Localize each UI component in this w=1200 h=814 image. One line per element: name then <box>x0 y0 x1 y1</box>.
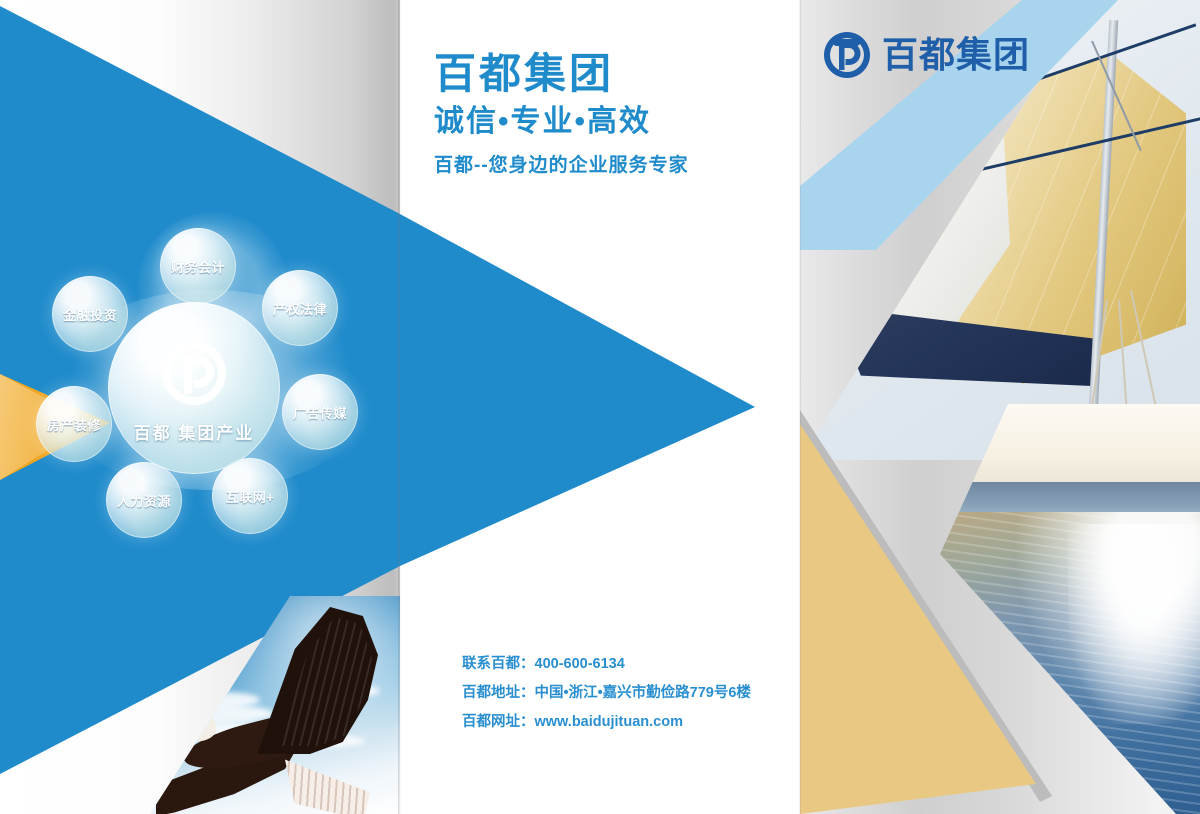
slogan: 诚信•专业•高效 <box>434 105 794 138</box>
bubble-label: 金融投资 <box>63 305 117 324</box>
wave-spray <box>1068 524 1200 724</box>
panel-fold-right <box>798 0 801 814</box>
panel-fold-left <box>398 0 401 814</box>
bubble-node-advertising-media[interactable]: 广告传媒 <box>282 374 358 450</box>
right-panel <box>800 0 1200 814</box>
headline-block: 百都集团 诚信•专业•高效 百都--您身边的企业服务专家 <box>434 52 794 177</box>
industry-bubble-diagram: 财务会计 产权法律 广告传媒 互联网+ 人力资源 房产装修 金融投资 <box>30 222 390 542</box>
contact-website-line[interactable]: 百都网址：www.baidujituan.com <box>462 708 751 737</box>
eagle-beak <box>164 730 182 741</box>
eagle-tail <box>280 760 373 814</box>
bubble-label: 房产装修 <box>47 415 101 434</box>
brand-logo[interactable]: 百都集团 <box>822 30 1058 80</box>
contact-address-line: 百都地址：中国•浙江•嘉兴市勤俭路779号6楼 <box>462 679 751 708</box>
bubble-node-internet-plus[interactable]: 互联网+ <box>212 458 288 534</box>
brand-wordmark: 百都集团 <box>882 33 1058 77</box>
bubble-label: 财务会计 <box>171 257 225 276</box>
contact-phone-line: 联系百都：400-600-6134 <box>462 650 751 679</box>
tagline: 百都--您身边的企业服务专家 <box>434 150 794 177</box>
left-panel: 财务会计 产权法律 广告传媒 互联网+ 人力资源 房产装修 金融投资 <box>0 0 400 814</box>
baidu-group-d-logo-icon <box>822 30 872 80</box>
bubble-node-financial-investment[interactable]: 金融投资 <box>52 276 128 352</box>
page-title: 百都集团 <box>434 52 794 97</box>
bubble-label: 广告传媒 <box>293 403 347 422</box>
bubble-node-center[interactable]: 百都 集团产业 <box>108 302 280 474</box>
middle-panel: 百都集团 诚信•专业•高效 百都--您身边的企业服务专家 联系百都：400-60… <box>400 0 800 814</box>
wordmark-text: 百都集团 <box>882 34 1030 75</box>
contact-block: 联系百都：400-600-6134 百都地址：中国•浙江•嘉兴市勤俭路779号6… <box>462 650 751 737</box>
brochure-canvas: 财务会计 产权法律 广告传媒 互联网+ 人力资源 房产装修 金融投资 <box>0 0 1200 814</box>
bubble-node-real-estate-decoration[interactable]: 房产装修 <box>36 386 112 462</box>
bubble-node-finance-accounting[interactable]: 财务会计 <box>160 228 236 304</box>
bubble-node-property-law[interactable]: 产权法律 <box>262 270 338 346</box>
bubble-label: 人力资源 <box>117 491 171 510</box>
bubble-label: 互联网+ <box>226 487 275 506</box>
bubble-center-label: 百都 集团产业 <box>108 419 280 444</box>
baidu-group-d-logo-icon <box>157 336 231 410</box>
bubble-node-human-resources[interactable]: 人力资源 <box>106 462 182 538</box>
bubble-label: 产权法律 <box>273 299 327 318</box>
